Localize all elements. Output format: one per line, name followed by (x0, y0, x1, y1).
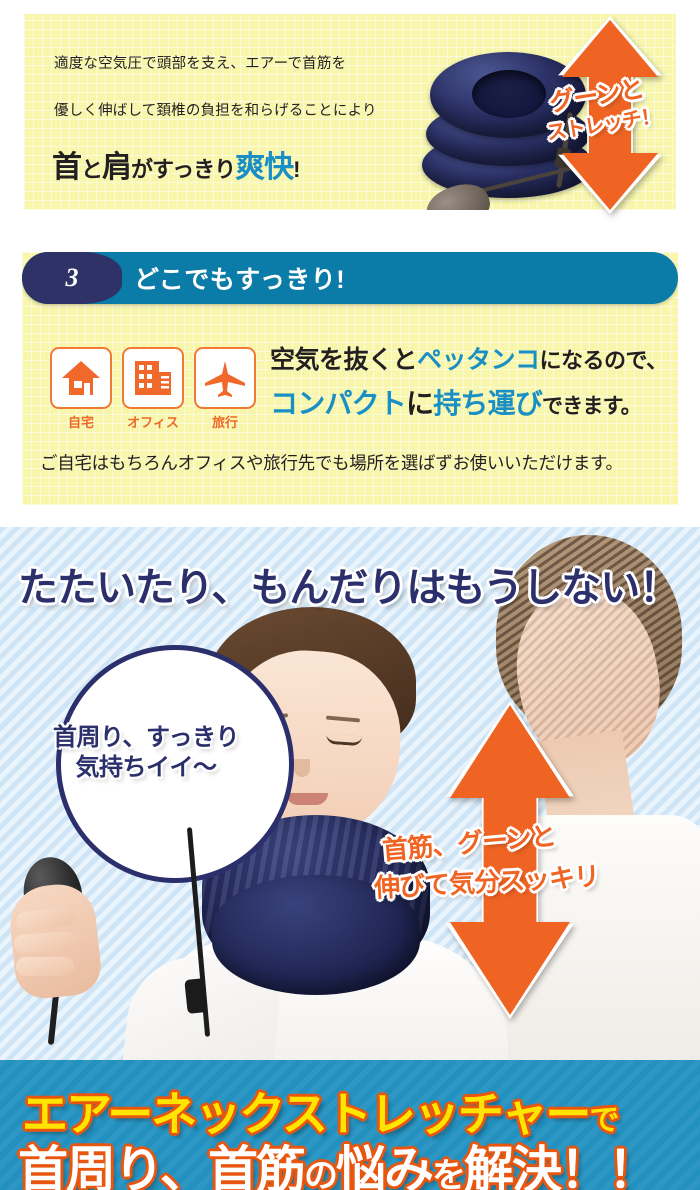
section-3-line1-part-c: になるので、 (540, 348, 668, 373)
callout-text: 首周り、すっきり 気持ちイイ〜 (30, 723, 262, 783)
intro-headline-part-4: がすっきり (131, 157, 235, 182)
home-icon (50, 347, 112, 409)
bottom-banner: エアーネックストレッチャーで 首周り、首筋の悩みを解決！！ (0, 1060, 700, 1190)
section-3-line2-part-c: 持ち運び (433, 388, 542, 419)
section-3-title: どこでもすっきり! (134, 252, 345, 304)
intro-line-2: 優しく伸ばして頚椎の負担を和らげることにより (54, 99, 404, 120)
advertisement-page: 適度な空気圧で頭部を支え、エアーで首筋を 優しく伸ばして頚椎の負担を和らげること… (0, 0, 700, 1190)
device-tube-clip (184, 978, 207, 1014)
usage-scene-office: オフィス (122, 347, 184, 431)
usage-scene-travel-label: 旅行 (194, 412, 256, 431)
banner-line-2: 首周り、首筋の悩みを解決！！ (18, 1130, 656, 1190)
section-3-line1-part-a: 空気を抜くと (270, 346, 417, 374)
finger-3 (16, 957, 74, 976)
banner-line2-part-d: を (432, 1157, 464, 1190)
section-3-number: 3 (22, 252, 122, 304)
office-building-icon (122, 347, 184, 409)
hero-photo-section: 首周り、すっきり 気持ちイイ〜 たたいたり、もんだりはもうしない！ 首筋、グーン… (0, 527, 700, 1060)
section-3-headline-line-1: 空気を抜くとペッタンコになるので、 (270, 340, 678, 376)
usage-scene-home-label: 自宅 (50, 412, 112, 431)
section-3-line1-part-b: ペッタンコ (417, 346, 540, 374)
main-woman-mouth (286, 793, 328, 805)
section-3-panel: 3 どこでもすっきり! 自宅 (22, 252, 678, 505)
section-3-header-bar: 3 どこでもすっきり! (22, 252, 678, 304)
section-3-headline-line-2: コンパクトに持ち運びできます。 (270, 382, 678, 422)
callout-line-2: 気持ちイイ〜 (30, 753, 262, 783)
intro-headline-part-6: ! (293, 157, 299, 182)
airplane-icon (194, 347, 256, 409)
hero-headline: たたいたり、もんだりはもうしない！ (18, 555, 678, 613)
usage-scene-office-label: オフィス (122, 412, 184, 431)
intro-headline: 首と肩がすっきり爽快! (52, 142, 299, 186)
banner-line2-part-e: 解決！！ (464, 1142, 656, 1190)
intro-headline-part-2: と (81, 157, 102, 182)
product-center-hole (472, 70, 546, 118)
main-woman-nose (294, 759, 310, 777)
section-3-headline: 空気を抜くとペッタンコになるので、 コンパクトに持ち運びできます。 (270, 340, 678, 422)
usage-scene-travel: 旅行 (194, 347, 256, 431)
usage-scene-icons: 自宅 (50, 347, 256, 431)
intro-line-1: 適度な空気圧で頭部を支え、エアーで首筋を (54, 52, 404, 73)
section-3-line2-part-a: コンパクト (270, 388, 406, 419)
usage-scene-home: 自宅 (50, 347, 112, 431)
banner-line2-part-a: 首周り、首筋 (18, 1142, 304, 1190)
intro-headline-part-5: 爽快 (235, 151, 293, 184)
banner-line2-part-c: 悩み (336, 1142, 432, 1190)
section-3-note: ご自宅はもちろんオフィスや旅行先でも場所を選ばずお使いいただけます。 (40, 450, 623, 475)
intro-description: 適度な空気圧で頭部を支え、エアーで首筋を 優しく伸ばして頚椎の負担を和らげること… (54, 52, 404, 146)
section-3-line2-part-d: できます。 (542, 395, 641, 418)
intro-headline-part-1: 首 (52, 151, 81, 184)
banner-line2-part-b: の (304, 1157, 336, 1190)
intro-headline-part-3: 肩 (102, 151, 131, 184)
callout-line-1: 首周り、すっきり (30, 723, 262, 753)
section-3-line2-part-b: に (406, 388, 433, 419)
